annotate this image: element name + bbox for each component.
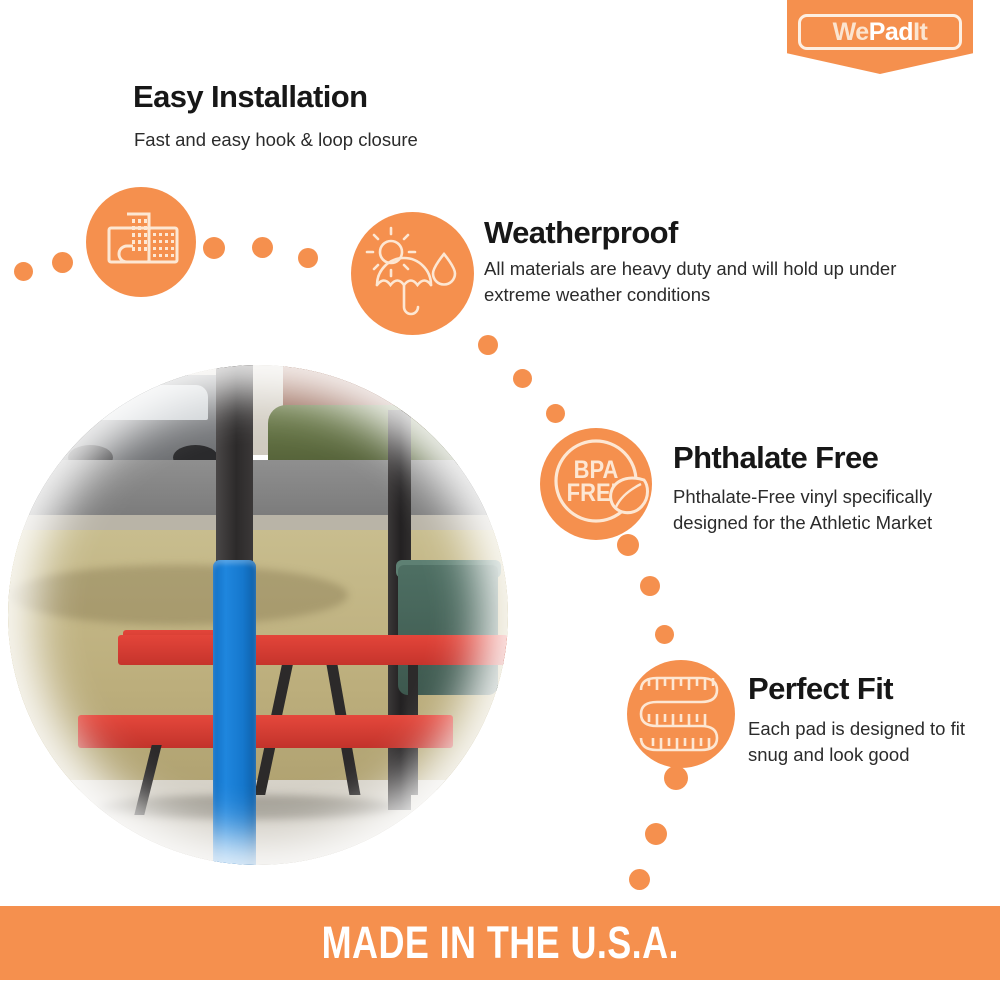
measuring-tape-icon — [627, 660, 735, 768]
infographic-page: WePadIt Easy Installation Fast and easy … — [0, 0, 1000, 987]
trail-dot — [298, 248, 318, 268]
feature-title-phthalate-free: Phthalate Free — [673, 441, 878, 475]
made-in-usa-text: MADE IN THE U.S.A. — [321, 917, 678, 969]
logo-text: WePadIt — [833, 20, 928, 45]
logo-text-it: It — [913, 18, 927, 46]
trail-dot — [252, 237, 273, 258]
trail-dot — [52, 252, 73, 273]
trail-dot — [513, 369, 532, 388]
feature-icon-circle-easy-installation — [86, 187, 196, 297]
trail-dot — [203, 237, 225, 259]
logo-text-pad: Pad — [869, 18, 913, 46]
bpa-free-leaf-icon: BPA FREE — [540, 428, 652, 540]
wepadit-logo: WePadIt — [798, 14, 962, 50]
feature-body-phthalate-free: Phthalate-Free vinyl specifically design… — [673, 484, 938, 537]
feature-title-weatherproof: Weatherproof — [484, 216, 678, 250]
trail-dot — [629, 869, 650, 890]
photo-vignette — [8, 365, 508, 865]
product-photo-padded-pole — [8, 365, 508, 865]
feature-title-easy-installation: Easy Installation — [133, 80, 367, 114]
trail-dot — [617, 534, 639, 556]
logo-text-we: We — [833, 18, 869, 46]
feature-icon-circle-perfect-fit — [627, 660, 735, 768]
feature-body-weatherproof: All materials are heavy duty and will ho… — [484, 256, 904, 309]
trail-dot — [546, 404, 565, 423]
trail-dot — [664, 766, 688, 790]
trail-dot — [655, 625, 674, 644]
trail-dot — [640, 576, 660, 596]
feature-body-easy-installation: Fast and easy hook & loop closure — [134, 127, 554, 153]
sun-umbrella-rain-icon — [351, 212, 474, 335]
feature-icon-circle-phthalate-free: BPA FREE — [540, 428, 652, 540]
trail-dot — [478, 335, 498, 355]
made-in-usa-banner: MADE IN THE U.S.A. — [0, 906, 1000, 980]
feature-title-perfect-fit: Perfect Fit — [748, 672, 893, 706]
hook-and-loop-icon — [86, 187, 196, 297]
trail-dot — [14, 262, 33, 281]
feature-body-perfect-fit: Each pad is designed to fit snug and loo… — [748, 716, 973, 769]
trail-dot — [645, 823, 667, 845]
feature-icon-circle-weatherproof — [351, 212, 474, 335]
